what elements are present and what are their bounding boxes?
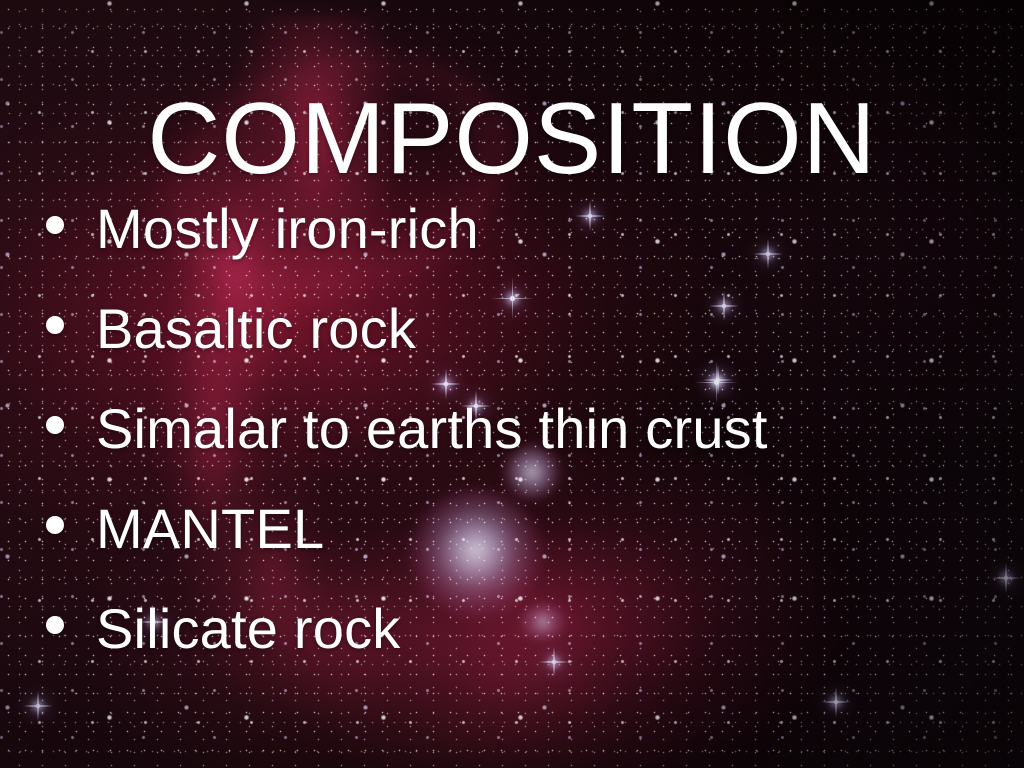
bullet-dot-icon [46,316,64,334]
bullet-dot-icon [46,416,64,434]
slide-content: COMPOSITION Mostly iron-rich Basaltic ro… [0,0,1024,768]
bullet-dot-icon [46,616,64,634]
bullet-item: Simalar to earths thin crust [46,396,1010,496]
bullet-dot-icon [46,216,64,234]
bullet-text: MANTEL [96,496,324,561]
bullet-text: Mostly iron-rich [96,196,479,261]
bullet-dot-icon [46,516,64,534]
bullet-item: Mostly iron-rich [46,196,1010,296]
slide-title: COMPOSITION [0,86,1024,192]
presentation-slide: COMPOSITION Mostly iron-rich Basaltic ro… [0,0,1024,768]
bullet-text: Simalar to earths thin crust [96,396,768,461]
bullet-item: MANTEL [46,496,1010,596]
bullet-text: Silicate rock [96,596,400,661]
bullet-text: Basaltic rock [96,296,416,361]
bullet-list: Mostly iron-rich Basaltic rock Simalar t… [46,196,1010,696]
bullet-item: Basaltic rock [46,296,1010,396]
bullet-item: Silicate rock [46,596,1010,696]
